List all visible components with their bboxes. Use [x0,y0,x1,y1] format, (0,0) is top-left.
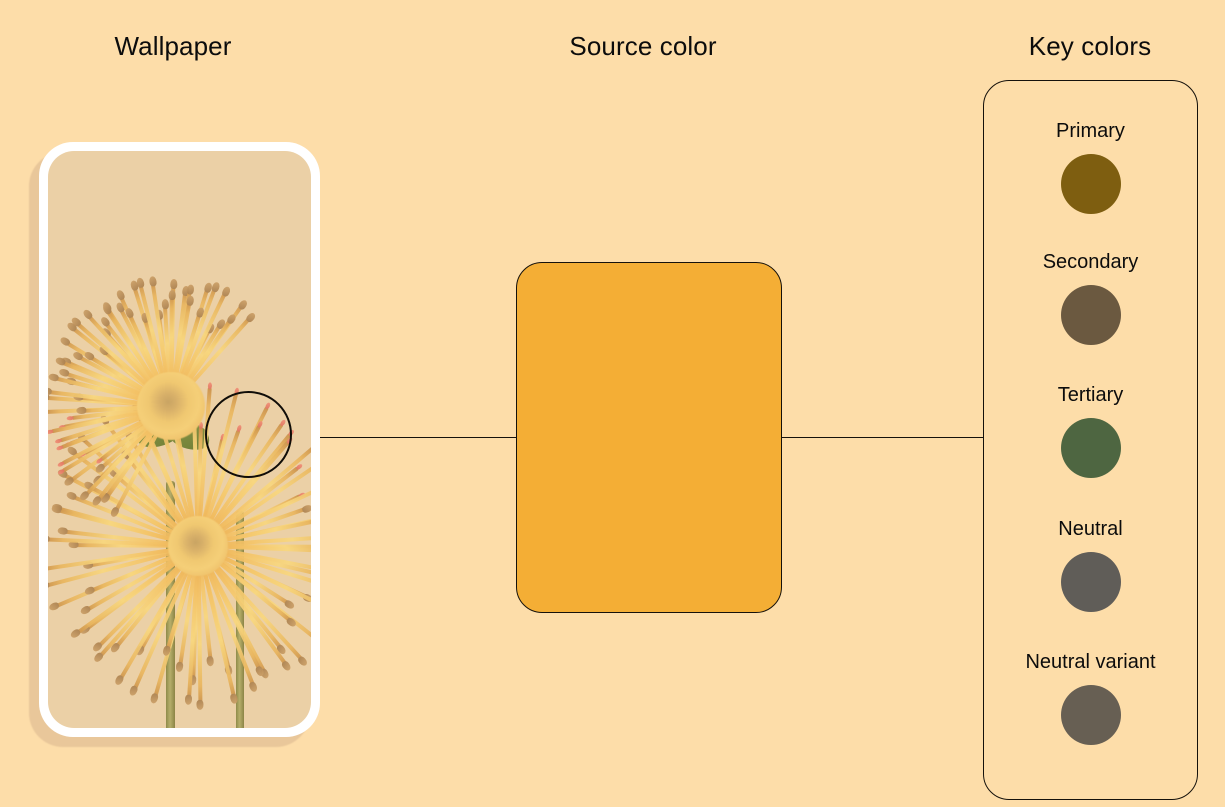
key-color-swatch [1061,685,1121,745]
flower-center [137,372,205,440]
key-color-neutral: Neutral [984,517,1197,612]
key-color-secondary: Secondary [984,250,1197,345]
key-color-label: Neutral variant [984,650,1197,674]
key-color-swatch [1061,285,1121,345]
key-color-label: Primary [984,119,1197,143]
key-color-swatch [1061,154,1121,214]
key-color-primary: Primary [984,119,1197,214]
key-color-tertiary: Tertiary [984,383,1197,478]
source-to-key-colors-connector [781,437,984,438]
key-colors-column-heading: Key colors [1029,31,1151,62]
flower-center [168,516,228,576]
key-color-label: Neutral [984,517,1197,541]
source-color-swatch [516,262,782,613]
key-color-swatch [1061,418,1121,478]
wallpaper-to-source-connector [292,437,517,438]
color-extraction-diagram: Wallpaper Source color Key colors Primar… [0,0,1225,807]
sampled-pixel-circle-marker [205,391,292,478]
key-color-label: Tertiary [984,383,1197,407]
key-colors-panel: Primary Secondary Tertiary Neutral Neutr… [983,80,1198,800]
key-color-label: Secondary [984,250,1197,274]
key-color-neutral-variant: Neutral variant [984,650,1197,745]
key-color-swatch [1061,552,1121,612]
wallpaper-column-heading: Wallpaper [115,31,232,62]
source-color-column-heading: Source color [569,31,716,62]
